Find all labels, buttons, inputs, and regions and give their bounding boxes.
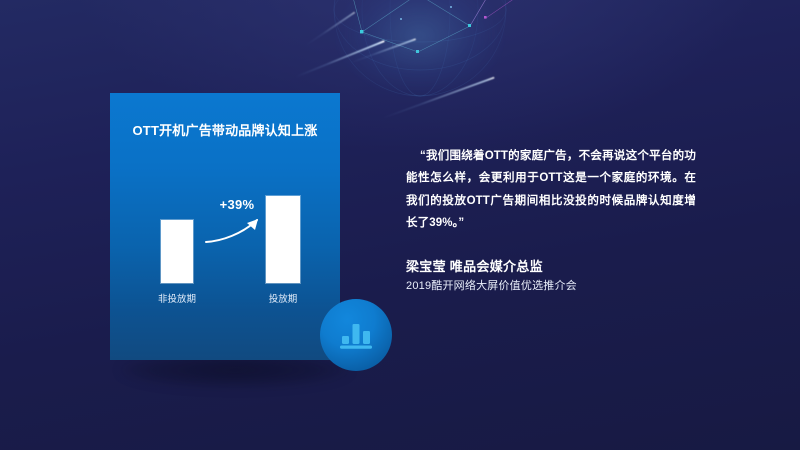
light-streak bbox=[295, 40, 385, 78]
bar-non-campaign bbox=[161, 220, 193, 283]
event-name: 2019酷开网络大屏价值优选推介会 bbox=[406, 277, 726, 296]
quote-block: “我们围绕着OTT的家庭广告，不会再说这个平台的功能性怎么样，会更利用于OTT这… bbox=[406, 145, 696, 235]
bar-chart-icon bbox=[339, 320, 373, 350]
light-streak bbox=[381, 77, 494, 120]
card-title: OTT开机广告带动品牌认知上涨 bbox=[110, 120, 340, 139]
light-streak bbox=[350, 38, 416, 64]
bar-campaign bbox=[266, 196, 300, 283]
bar-label-non-campaign: 非投放期 bbox=[147, 291, 207, 305]
stat-card: OTT开机广告带动品牌认知上涨 非投放期 投放期 +39% bbox=[110, 93, 340, 360]
quote-text: “我们围绕着OTT的家庭广告，不会再说这个平台的功能性怎么样，会更利用于OTT这… bbox=[406, 145, 696, 235]
slide-canvas: OTT开机广告带动品牌认知上涨 非投放期 投放期 +39% “我们围绕着OTT的… bbox=[0, 0, 800, 450]
bar-chart-badge bbox=[320, 299, 392, 371]
growth-arrow-icon bbox=[202, 214, 270, 248]
light-streak bbox=[305, 11, 356, 46]
attribution-block: 梁宝莹 唯品会媒介总监 2019酷开网络大屏价值优选推介会 bbox=[406, 257, 726, 295]
delta-percentage-label: +39% bbox=[204, 197, 270, 212]
bar-label-campaign: 投放期 bbox=[257, 291, 309, 305]
speaker-name-and-title: 梁宝莹 唯品会媒介总监 bbox=[406, 257, 726, 277]
